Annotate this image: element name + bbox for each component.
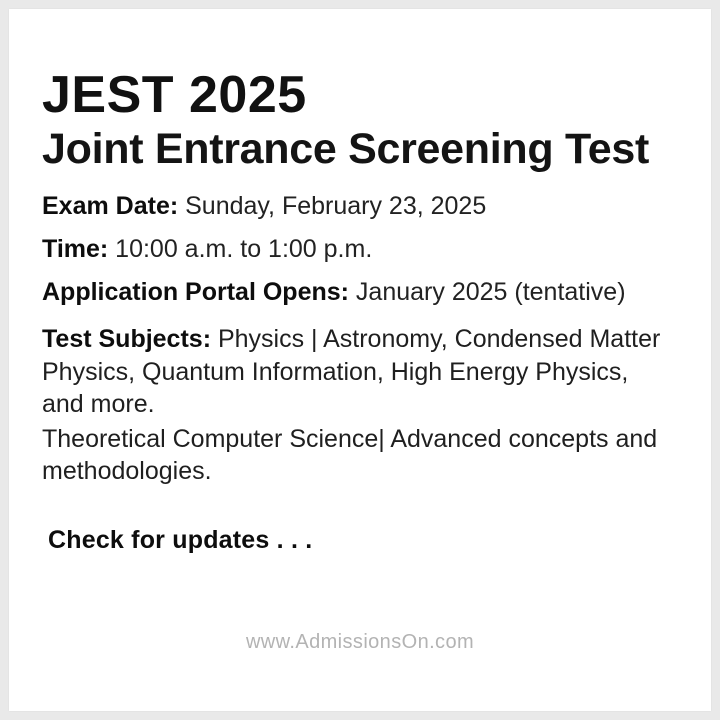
exam-date-row: Exam Date: Sunday, February 23, 2025 [42, 194, 672, 219]
test-subjects-label: Test Subjects: [42, 325, 211, 353]
application-portal-row: Application Portal Opens: January 2025 (… [42, 280, 672, 305]
poster-frame: JEST 2025 Joint Entrance Screening Test … [0, 0, 720, 720]
exam-date-label: Exam Date: [42, 192, 178, 220]
exam-time-label: Time: [42, 235, 108, 263]
exam-time-row: Time: 10:00 a.m. to 1:00 p.m. [42, 237, 672, 262]
exam-time-value: 10:00 a.m. to 1:00 p.m. [108, 235, 372, 263]
poster-card: JEST 2025 Joint Entrance Screening Test … [9, 9, 711, 711]
check-for-updates-note: Check for updates . . . [48, 526, 672, 555]
page-subtitle: Joint Entrance Screening Test [42, 127, 672, 172]
website-footer: www.AdmissionsOn.com [9, 631, 711, 654]
exam-date-value: Sunday, February 23, 2025 [178, 192, 486, 220]
application-portal-value: January 2025 (tentative) [349, 278, 626, 306]
test-subjects-row: Test Subjects: Physics | Astronomy, Cond… [42, 323, 672, 421]
application-portal-label: Application Portal Opens: [42, 278, 349, 306]
test-subjects-second-line: Theoretical Computer Science| Advanced c… [42, 423, 672, 488]
poster-content: JEST 2025 Joint Entrance Screening Test … [42, 69, 672, 555]
page-title: JEST 2025 [42, 69, 672, 121]
